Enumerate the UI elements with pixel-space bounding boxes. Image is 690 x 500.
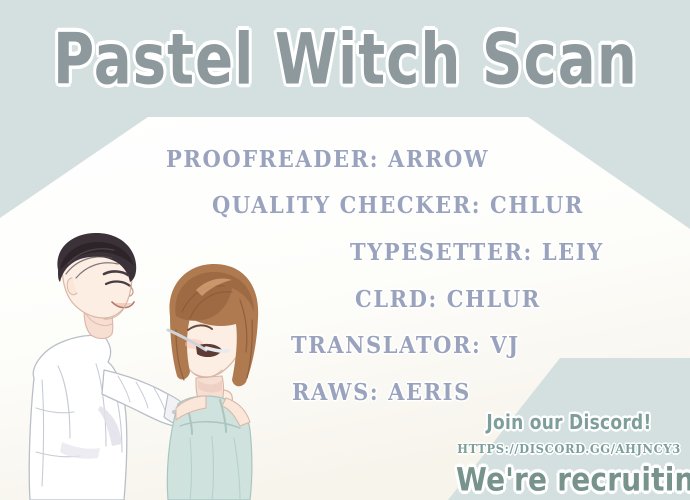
discord-invite-link[interactable]: HTTPS://DISCORD.GG/AHJNCY3 [456, 442, 682, 457]
recruiting-label: We're recruiting! [456, 461, 682, 499]
credit-line-quality-checker: QUALITY CHECKER: CHLUR [212, 191, 584, 219]
credit-line-clrd: CLRD: CHLUR [355, 285, 541, 313]
credits-page: Pastel Witch Scan [0, 0, 690, 500]
credit-line-translator: TRANSLATOR: VJ [291, 331, 520, 359]
credit-line-raws: RAWS: AERIS [292, 378, 471, 406]
credit-line-proofreader: PROOFREADER: ARROW [166, 145, 489, 173]
discord-block: Join our Discord! HTTPS://DISCORD.GG/AHJ… [456, 413, 682, 496]
title-band: Pastel Witch Scan [0, 0, 690, 118]
page-title: Pastel Witch Scan [53, 18, 638, 101]
credits-list: PROOFREADER: ARROW QUALITY CHECKER: CHLU… [0, 140, 690, 410]
discord-join-label: Join our Discord! [456, 411, 682, 435]
credit-line-typesetter: TYPESETTER: LEIY [350, 238, 604, 266]
